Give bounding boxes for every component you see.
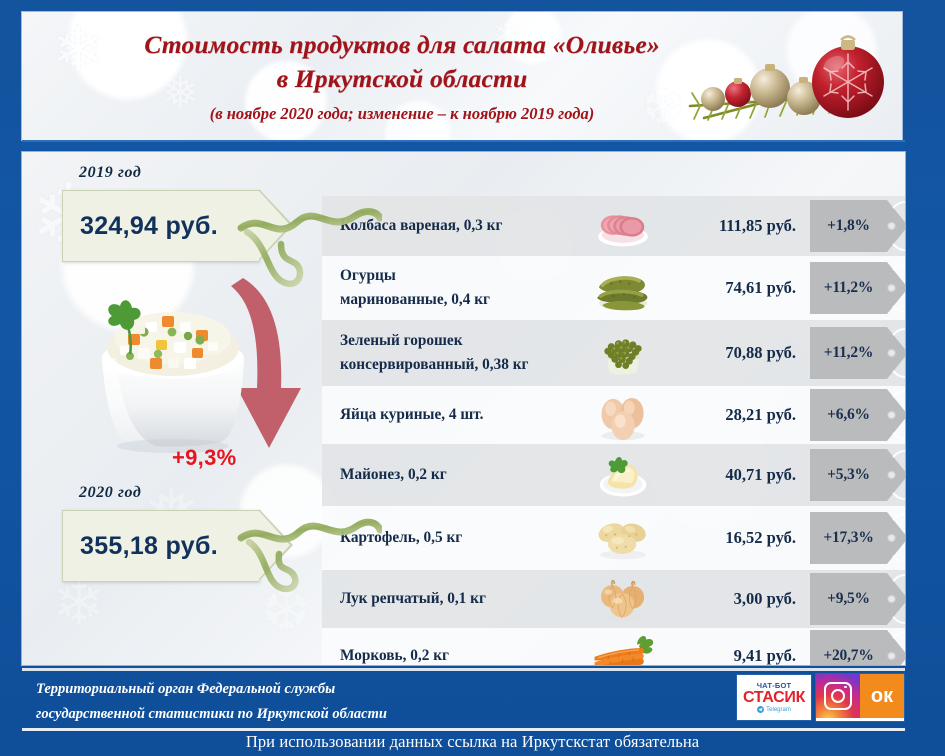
product-price: 16,52 руб. [677,528,802,548]
agency-name: Территориальный орган Федеральной службы… [36,677,736,727]
change-price-tag: +6,6% [810,389,887,441]
product-price: 40,71 руб. [677,465,802,485]
product-name-line-1: Колбаса вареная, 0,3 кг [340,214,569,238]
product-price: 111,85 руб. [677,216,802,236]
chatbot-stasik-badge[interactable]: ЧАТ-БОТ СТАСИК Telegram [736,674,812,721]
change-price-tag: +11,2% [810,327,887,379]
body-panel: ❄ ❅ ❆ ❄ 2019 год 324,94 руб. [22,152,905,665]
onions-icon [569,575,677,623]
header-banner: ❄ ❅ ❄ ❆ Стоимость продуктов для салата «… [22,12,902,140]
green-peas-icon [569,327,677,379]
change-percent: +20,7% [823,647,873,665]
change-percent: +5,3% [827,466,870,484]
header-divider [22,143,905,150]
change-price-tag: +11,2% [810,262,887,314]
tag-point [259,509,293,581]
eggs-icon [569,389,677,441]
product-name: Огурцымаринованные, 0,4 кг [322,264,569,312]
footer-top-rule [22,668,905,671]
total-2020-tag: 355,18 руб. [62,510,259,582]
product-name: Лук репчатый, 0,1 кг [322,587,569,611]
sausage-slices-icon [569,201,677,251]
odnoklassniki-icon: ок [871,686,893,706]
product-name-line-1: Лук репчатый, 0,1 кг [340,587,569,611]
product-name-line-1: Огурцы [340,264,569,288]
change-price-tag: +20,7% [810,630,887,665]
table-row: Колбаса вареная, 0,3 кг 111,85 руб.+1,8% [322,196,905,256]
pickled-cucumbers-icon [569,262,677,314]
total-2019-tag: 324,94 руб. [62,190,259,262]
product-name: Картофель, 0,5 кг [322,526,569,550]
title-line-2: в Иркутской области [277,64,528,94]
change-percent: +9,5% [827,590,870,608]
total-change-badge: +9,3% [172,445,237,471]
change-tag-cell: +11,2% [802,256,905,320]
telegram-label: Telegram [766,707,791,713]
footer-note: При использовании данных ссылка на Иркут… [0,732,945,752]
table-row: Яйца куриные, 4 шт. 28,21 руб.+6,6% [322,386,905,444]
product-price: 70,88 руб. [677,343,802,363]
social-buttons: ок [815,673,905,722]
table-row: Зеленый горошекконсервированный, 0,38 кг [322,320,905,386]
product-name-line-2: консервированный, 0,38 кг [340,353,569,377]
carrots-icon [569,632,677,665]
product-name: Зеленый горошекконсервированный, 0,38 кг [322,329,569,377]
footer: Территориальный орган Федеральной службы… [0,668,945,756]
year-2019-label: 2019 год [79,164,141,182]
change-price-tag: +17,3% [810,512,887,564]
change-percent: +1,8% [827,217,870,235]
change-percent: +17,3% [823,529,873,547]
products-table: Колбаса вареная, 0,3 кг 111,85 руб.+1,8%… [322,152,905,665]
chatbot-name-label: СТАСИК [743,690,805,706]
product-price: 74,61 руб. [677,278,802,298]
change-tag-cell: +11,2% [802,320,905,386]
product-price: 9,41 руб. [677,646,802,665]
product-name: Майонез, 0,2 кг [322,463,569,487]
telegram-row: Telegram [757,706,791,713]
change-tag-cell: +6,6% [802,386,905,444]
change-percent: +11,2% [824,344,873,362]
agency-line-2: государственной статистики по Иркутской … [36,702,736,727]
change-tag-cell: +20,7% [802,628,905,665]
table-row: Майонез, 0,2 кг 40,71 руб.+5,3% [322,444,905,506]
change-price-tag: +1,8% [810,200,887,252]
product-name: Морковь, 0,2 кг [322,644,569,665]
product-name-line-2: маринованные, 0,4 кг [340,288,569,312]
total-2020-value: 355,18 руб. [63,511,259,581]
product-name-line-1: Картофель, 0,5 кг [340,526,569,550]
product-name: Колбаса вареная, 0,3 кг [322,214,569,238]
odnoklassniki-button[interactable]: ок [860,674,904,718]
product-price: 3,00 руб. [677,589,802,609]
summary-column: 2019 год 324,94 руб. [22,152,322,665]
table-row: Морковь, 0,2 кг 9,41 руб.+20,7% [322,628,905,665]
table-row: Огурцымаринованные, 0,4 кг 74,61 руб.+11… [322,256,905,320]
product-name: Яйца куриные, 4 шт. [322,403,569,427]
change-tag-cell: +17,3% [802,506,905,570]
table-row: Картофель, 0,5 кг 16,52 руб.+17,3% [322,506,905,570]
page-title: Стоимость продуктов для салата «Оливье» … [22,12,782,140]
olivier-salad-bowl-icon [80,270,265,455]
product-name-line-1: Майонез, 0,2 кг [340,463,569,487]
product-price: 28,21 руб. [677,405,802,425]
change-price-tag: +9,5% [810,573,887,625]
infographic-page: ❄ ❅ ❄ ❆ Стоимость продуктов для салата «… [0,0,945,756]
title-subtitle: (в ноябре 2020 года; изменение – к ноябр… [210,103,594,125]
product-name-line-1: Яйца куриные, 4 шт. [340,403,569,427]
tag-point [259,189,293,261]
change-tag-cell: +1,8% [802,196,905,256]
year-2020-label: 2020 год [79,484,141,502]
title-line-1: Стоимость продуктов для салата «Оливье» [144,30,660,60]
change-tag-cell: +9,5% [802,570,905,628]
change-percent: +11,2% [824,279,873,297]
telegram-icon [757,706,764,713]
instagram-button[interactable] [816,674,860,718]
potatoes-icon [569,514,677,562]
mayonnaise-icon [569,449,677,501]
change-tag-cell: +5,3% [802,444,905,506]
agency-line-1: Территориальный орган Федеральной службы [36,677,736,702]
footer-bottom-rule [22,728,905,731]
product-name-line-1: Зеленый горошек [340,329,569,353]
social-badges: ЧАТ-БОТ СТАСИК Telegram ок [736,672,905,722]
total-2019-value: 324,94 руб. [63,191,259,261]
table-row: Лук репчатый, 0,1 кг 3,00 руб.+9,5% [322,570,905,628]
instagram-icon [824,682,852,710]
change-percent: +6,6% [827,406,870,424]
product-name-line-1: Морковь, 0,2 кг [340,644,569,665]
change-price-tag: +5,3% [810,449,887,501]
